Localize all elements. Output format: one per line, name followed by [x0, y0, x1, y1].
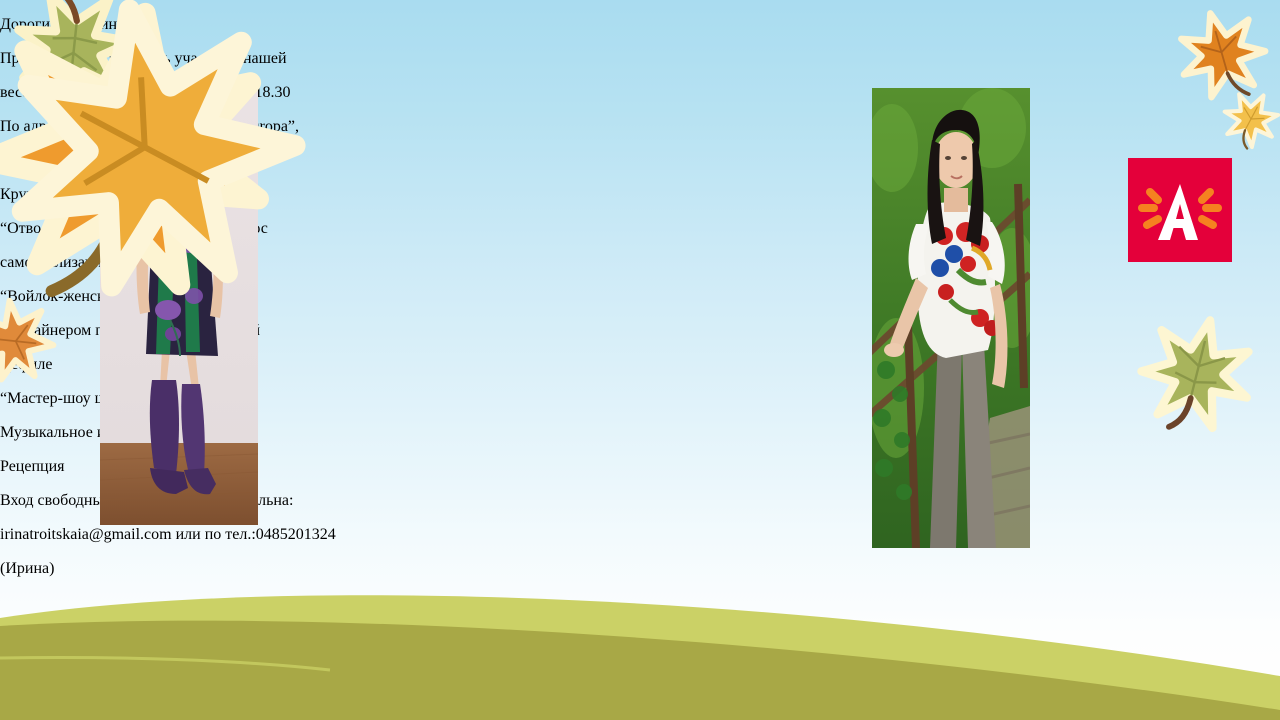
- photo-model-blouse: [872, 88, 1030, 548]
- contact-email-link[interactable]: irinatroitskaia@gmail.com: [0, 526, 172, 543]
- footer-contact-line: irinatroitskaia@gmail.com или по тел.:04…: [0, 526, 1280, 544]
- contact-phone: или по тел.:0485201324: [176, 526, 336, 543]
- invite-line-1: Приглашаем вас принять участие в нашей: [0, 50, 1280, 68]
- hill-back: [0, 580, 1280, 720]
- photo-model-dress: [100, 88, 258, 525]
- antwerp-logo: [1128, 158, 1232, 262]
- poster-canvas: Дорогие женщины, Приглашаем вас принять …: [0, 0, 1280, 720]
- hill-front: [0, 600, 1280, 720]
- poster-title: Дорогие женщины,: [0, 16, 1280, 34]
- footer-contact-person: (Ирина): [0, 560, 1280, 578]
